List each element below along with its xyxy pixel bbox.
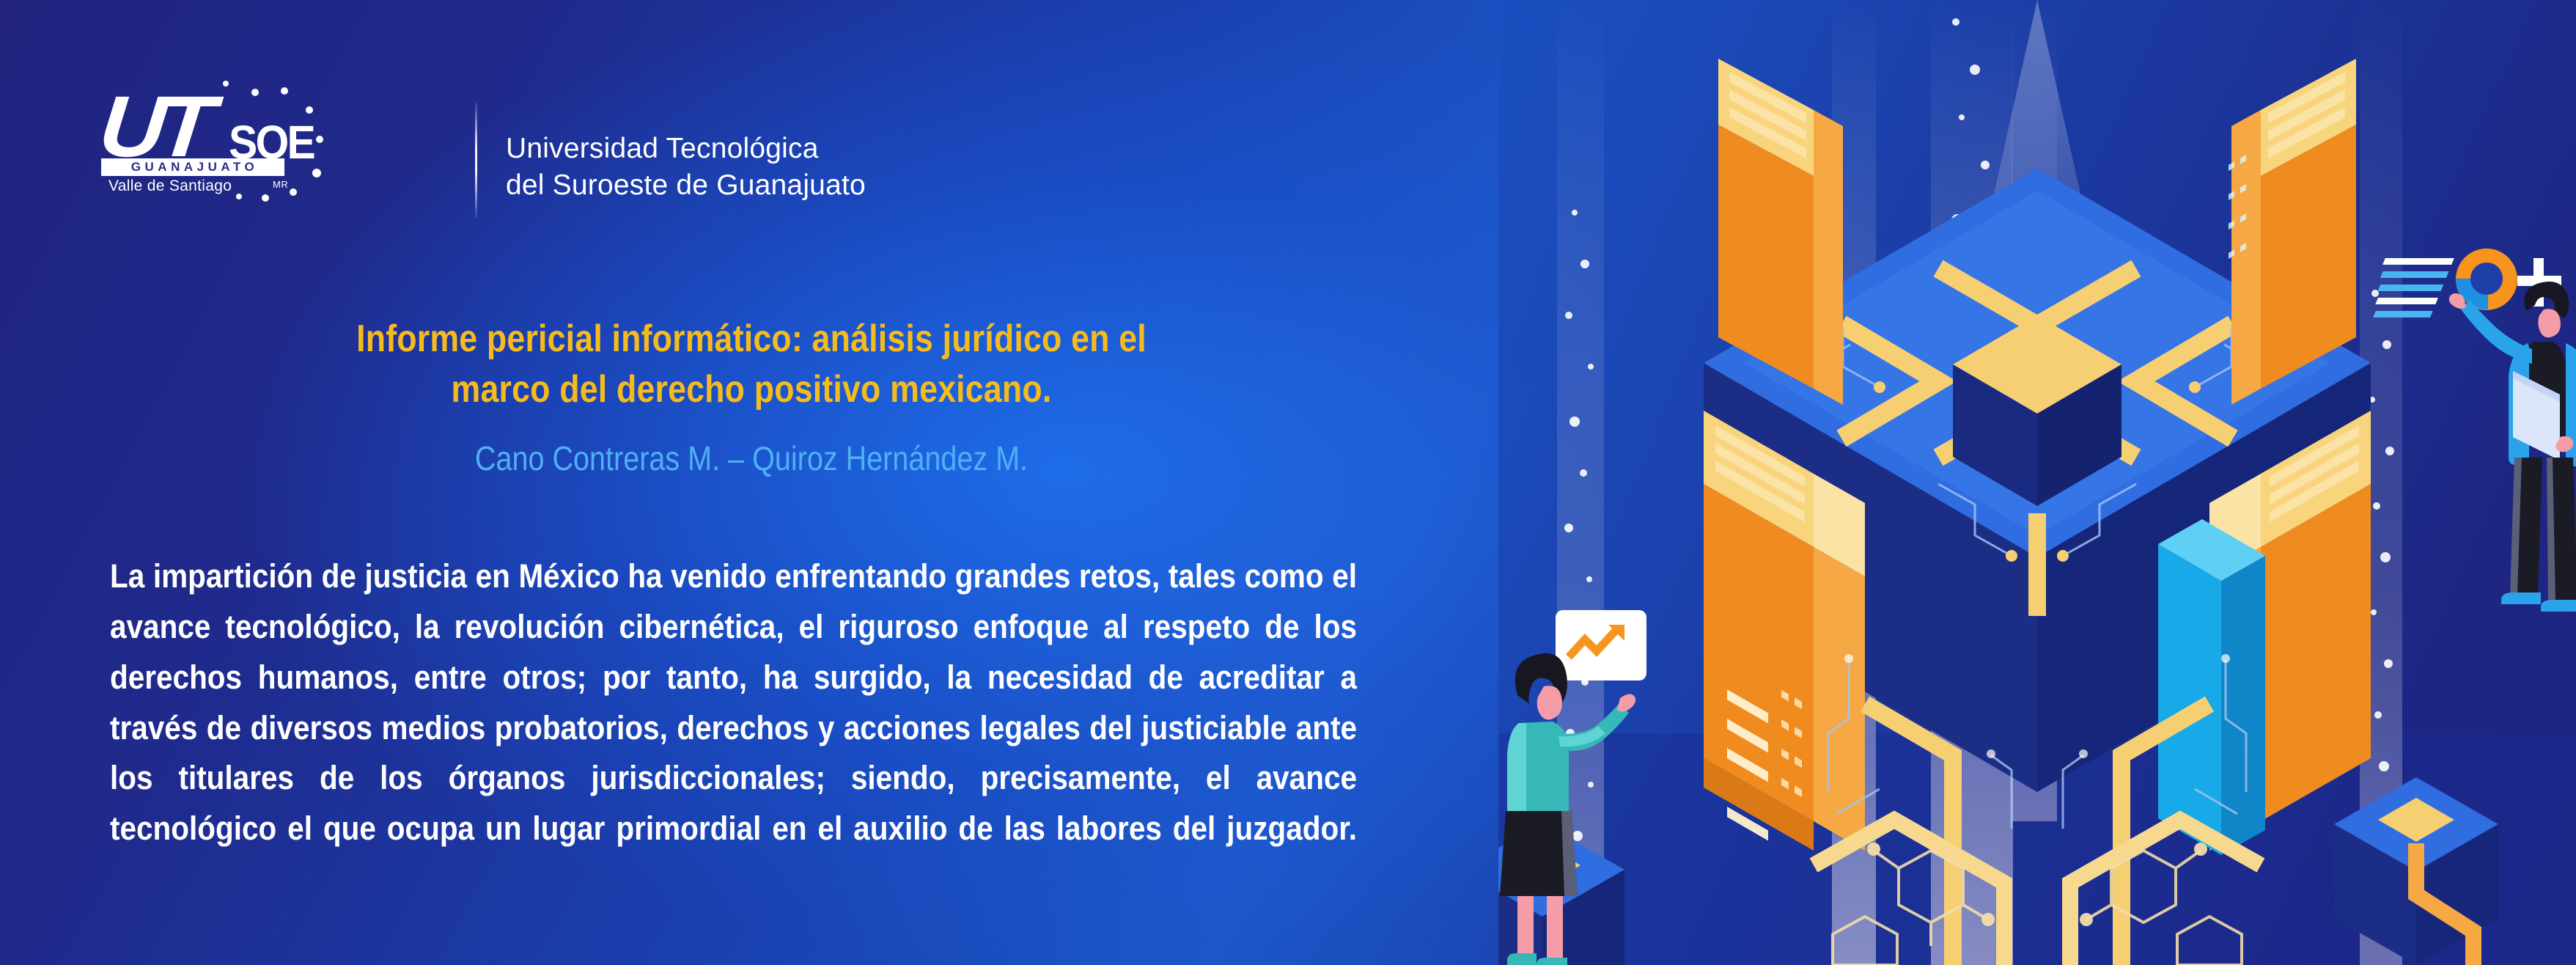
article-title-line-2: marco del derecho positivo mexicano. [200, 364, 1303, 415]
institution-line-1: Universidad Tecnológica [506, 131, 866, 167]
article-authors: Cano Contreras M. – Quiroz Hernández M. [200, 439, 1303, 479]
institution-line-2: del Suroeste de Guanajuato [506, 167, 866, 204]
donut-chart-icon [2456, 249, 2517, 310]
logo-campus-text: Valle de Santiago [108, 177, 232, 195]
logo-mark: UT SOE GUANAJUATO Valle de Santiago MR [95, 87, 337, 193]
logo-divider [475, 101, 477, 219]
institution-name: Universidad Tecnológica del Suroeste de … [506, 131, 866, 204]
logo-trademark-text: MR [273, 179, 288, 190]
logo-ut-text: UT [95, 84, 211, 170]
logo-state-bar: GUANAJUATO [101, 158, 284, 176]
logo-state-text: GUANAJUATO [128, 160, 258, 175]
conference-banner: UT SOE GUANAJUATO Valle de Santiago MR U… [0, 0, 2576, 965]
article-abstract: La impartición de justicia en México ha … [110, 551, 1357, 854]
article-title-line-1: Informe pericial informático: análisis j… [200, 314, 1303, 364]
university-logo: UT SOE GUANAJUATO Valle de Santiago MR [95, 87, 337, 193]
illustration-panel [1498, 0, 2576, 965]
article-title: Informe pericial informático: análisis j… [200, 314, 1303, 415]
